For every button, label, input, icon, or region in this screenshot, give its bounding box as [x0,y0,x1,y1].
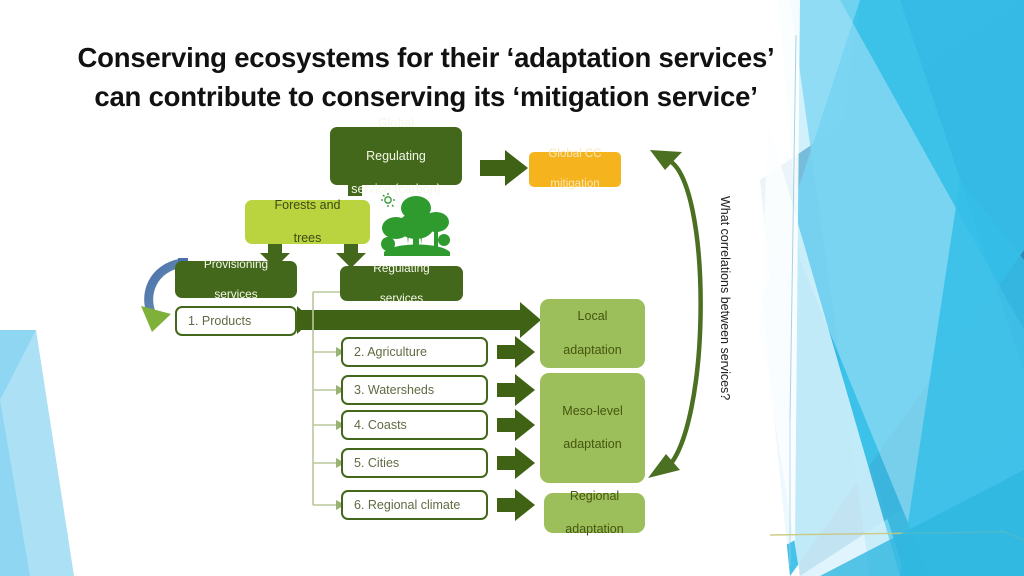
title-line-1: Conserving ecosystems for their ‘adaptat… [46,38,806,77]
service-item-watersheds[interactable]: 3. Watersheds [341,375,488,405]
forests-line-2: trees [245,230,370,247]
provisioning-line-1: Provisioning [175,257,297,272]
arrow-products-to-local-adaptation [300,302,541,338]
local-adaptation-line-1: Local [540,308,645,325]
service-item-agriculture[interactable]: 2. Agriculture [341,337,488,367]
box-global-cc-mitigation[interactable]: Global CC mitigation [529,152,621,187]
bg-hairline-4 [770,532,1005,535]
box-global-cc-mitigation-label: Global CC mitigation [529,147,621,192]
regulating-line-1: Regulating [340,261,463,276]
service-item-products[interactable]: 1. Products [175,306,297,336]
box-meso-level-adaptation-label: Meso-level adaptation [540,403,645,454]
tree-trunk-right [434,228,438,248]
bg-shape-blue-bottom-left [0,330,74,576]
sun-sparkle-icon [381,193,395,207]
bg-hairline-3 [1000,530,1024,540]
local-adaptation-line-2: adaptation [540,342,645,359]
service-item-cities-label: 5. Cities [343,456,486,470]
title-line-2: can contribute to conserving its ‘mitiga… [46,77,806,116]
global-cc-line-2: mitigation [529,177,621,192]
box-meso-level-adaptation[interactable]: Meso-level adaptation [540,373,645,483]
bg-shape-blue-pale-1 [778,0,1024,576]
arrow-global-regulating-to-mitigation [480,150,528,186]
service-item-coasts-label: 4. Coasts [343,418,486,432]
bg-shape-blue-pale-2 [760,120,900,576]
forest-trees-icon [378,192,456,260]
regional-adaptation-line-2: adaptation [544,521,645,538]
box-global-regulating-service[interactable]: Global Regulating service (carbon) [330,127,462,185]
arrow-products-marker-left [297,306,312,334]
service-item-agriculture-label: 2. Agriculture [343,345,486,359]
shrub-left [381,237,395,251]
box-provisioning-services-label: Provisioning services [175,257,297,301]
service-item-regional-climate[interactable]: 6. Regional climate [341,490,488,520]
provisioning-line-2: services [175,287,297,302]
arrow-cities-to-adaptation [497,447,535,479]
box-regional-adaptation[interactable]: Regional adaptation [544,493,645,533]
service-item-watersheds-label: 3. Watersheds [343,383,486,397]
arrows-services-to-adaptation [497,336,535,521]
service-item-regional-climate-label: 6. Regional climate [343,498,486,512]
global-regulating-line-2: Regulating [330,148,462,165]
forests-line-1: Forests and [245,197,370,214]
slide-canvas: Conserving ecosystems for their ‘adaptat… [0,0,1024,576]
arrow-watersheds-to-adaptation [497,374,535,406]
global-cc-line-1: Global CC [529,147,621,162]
correlation-double-arrow-curve [665,160,701,470]
correlation-question-label: What correlations between services? [718,196,732,400]
correlation-arrowhead-bottom [648,454,680,478]
bg-shape-blue-light-right-edge [900,180,1024,576]
regulating-line-2: services [340,291,463,306]
box-regional-adaptation-label: Regional adaptation [544,488,645,539]
box-regulating-services-label: Regulating services [340,261,463,305]
bg-shape-white-bottom-left [0,330,74,576]
shrub-right [438,234,450,246]
box-global-regulating-service-label: Global Regulating service (carbon) [330,115,462,198]
arrow-agriculture-to-adaptation [497,336,535,368]
arrow-coasts-to-adaptation [497,409,535,441]
global-regulating-line-1: Global [330,115,462,132]
box-forests-and-trees[interactable]: Forests and trees [245,200,370,244]
box-regulating-services[interactable]: Regulating services [340,266,463,301]
meso-adaptation-line-2: adaptation [540,436,645,453]
box-local-adaptation-label: Local adaptation [540,308,645,359]
meso-adaptation-line-1: Meso-level [540,403,645,420]
box-provisioning-services[interactable]: Provisioning services [175,261,297,298]
arrow-provisioning-to-products-head [141,306,171,332]
box-forests-and-trees-label: Forests and trees [245,197,370,248]
regional-adaptation-line-1: Regional [544,488,645,505]
bg-shape-blue-bottom-right [820,470,1024,576]
bg-shape-blue-mid-2 [790,0,1024,576]
arrow-regional-to-adaptation [497,489,535,521]
box-local-adaptation[interactable]: Local adaptation [540,299,645,368]
correlation-arrowhead-top [650,150,682,170]
service-item-products-label: 1. Products [177,314,295,328]
bg-shape-blue-deep-right [820,0,1024,576]
slide-title: Conserving ecosystems for their ‘adaptat… [46,38,806,116]
service-item-coasts[interactable]: 4. Coasts [341,410,488,440]
service-item-cities[interactable]: 5. Cities [341,448,488,478]
